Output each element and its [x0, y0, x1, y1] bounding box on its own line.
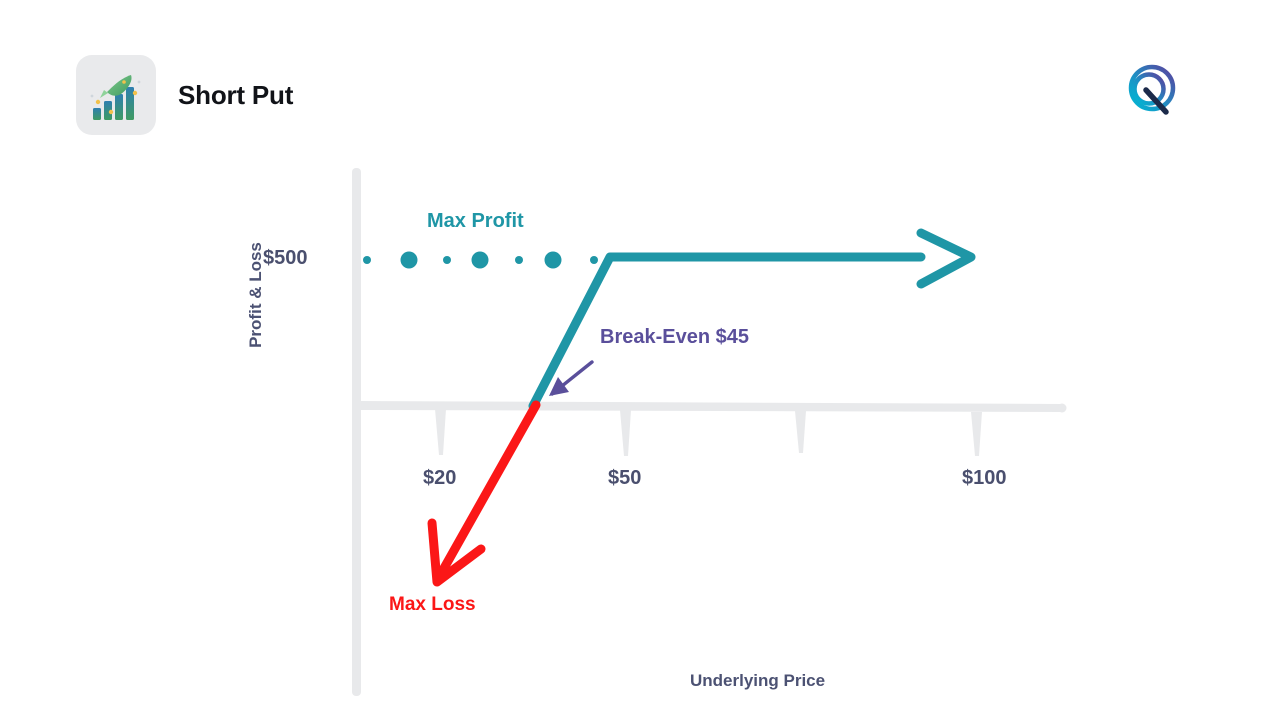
payoff-diagram	[0, 0, 1280, 723]
x-tick-label-100: $100	[962, 467, 1007, 490]
payoff-arrow-right	[921, 233, 971, 284]
y-axis-title: Profit & Loss	[246, 235, 266, 355]
y-tick-label-500: $500	[263, 247, 308, 270]
x-axis-line	[361, 401, 1061, 412]
annotation-max-loss: Max Loss	[389, 594, 476, 616]
break-even-arrow-head	[549, 377, 569, 396]
max-loss-line-red	[443, 405, 536, 570]
x-tick-label-20: $20	[423, 467, 456, 490]
x-axis-title: Underlying Price	[690, 671, 825, 691]
x-tick-label-50: $50	[608, 467, 641, 490]
max-profit-dotted-line	[363, 252, 598, 269]
annotation-break-even: Break-Even $45	[600, 326, 749, 349]
annotation-max-profit: Max Profit	[427, 210, 524, 233]
y-axis-line	[352, 168, 361, 696]
